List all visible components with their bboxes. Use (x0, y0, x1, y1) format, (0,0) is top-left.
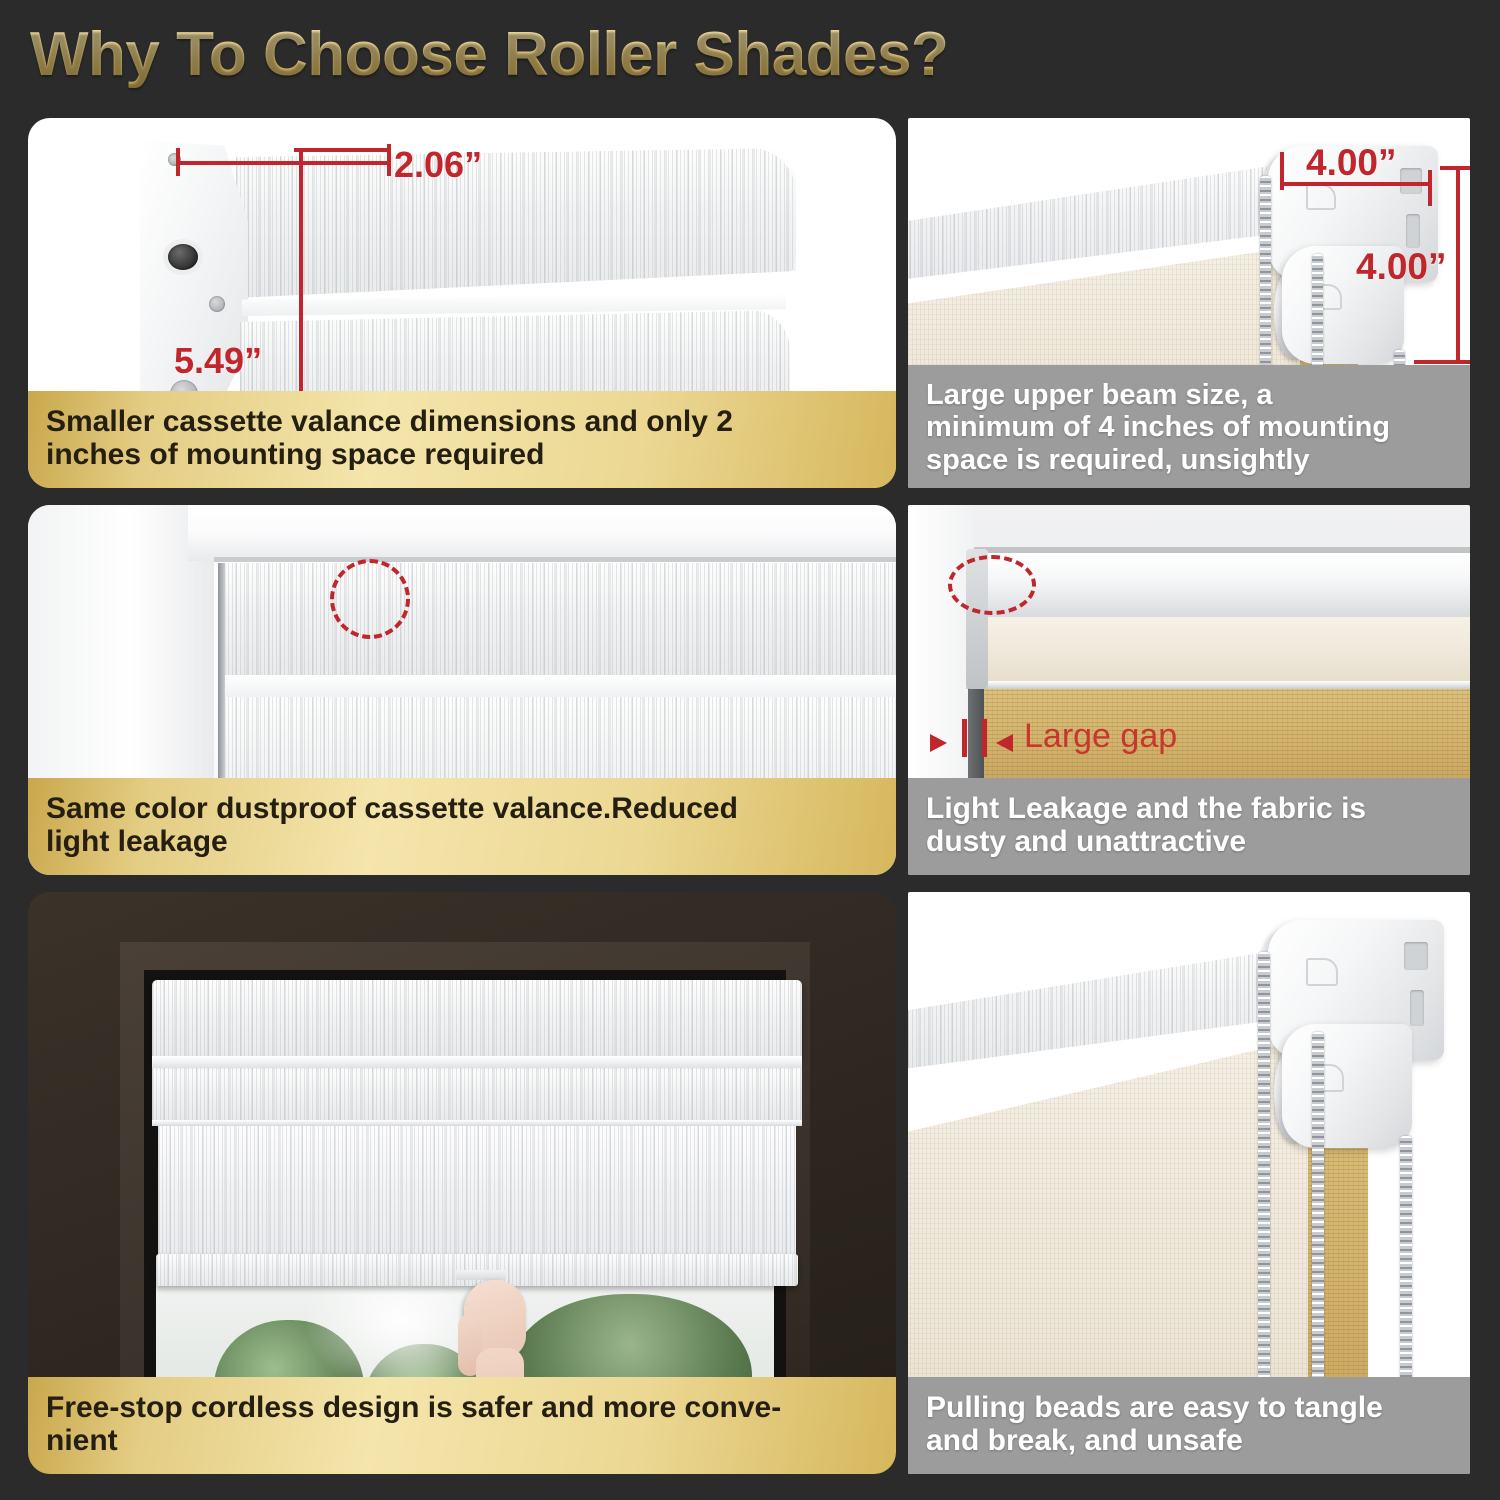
panel-large-upper-beam: 4.00” 4.00” Large upper beam size, a min… (908, 118, 1470, 488)
beam-height-tick-top (1440, 166, 1470, 170)
cassette-headrail (152, 980, 802, 1062)
cream-valance-strip (966, 617, 1470, 685)
large-gap-label: Large gap (1024, 717, 1177, 756)
panel-3-caption: Same color dustproof cassette valance.Re… (28, 778, 896, 875)
gap-highlight-circle (330, 559, 410, 639)
beam-width-label: 4.00” (1306, 142, 1397, 184)
bracket-embossed-arrow-top (1306, 184, 1336, 210)
beam-height-label: 4.00” (1356, 246, 1447, 288)
valance-bottom-edge (966, 681, 1470, 689)
headrail-lip (152, 1056, 802, 1068)
bracket-slot-top (1400, 168, 1422, 194)
panel-6-caption-line-1: Pulling beads are easy to tangle (926, 1391, 1452, 1425)
gap-marker-bar-left (962, 719, 967, 757)
panel-4-caption-line-2: dusty and unattractive (926, 825, 1452, 859)
panel-2-caption: Large upper beam size, a minimum of 4 in… (908, 365, 1470, 488)
panel-2-caption-line-3: space is required, unsightly (926, 444, 1452, 476)
panel-1-caption-line-1: Smaller cassette valance dimensions and … (46, 405, 878, 439)
height-dimension-tick-top (294, 148, 389, 152)
height-dimension-label: 5.49” (174, 340, 262, 382)
panel-6-caption: Pulling beads are easy to tangle and bre… (908, 1377, 1470, 1474)
panel-light-leakage: Large gap Light Leakage and the fabric i… (908, 505, 1470, 875)
gap-highlight-circle (948, 555, 1036, 615)
window-head-trim (188, 505, 896, 561)
panel-cordless-design: Free-stop cordless design is safer and m… (28, 892, 896, 1474)
bracket-slot-mid (1410, 990, 1424, 1026)
panel-dustproof-cassette: smaller gap Same color dustproof cassett… (28, 505, 896, 875)
gap-arrow-left (930, 734, 947, 752)
panel-4-caption-line-1: Light Leakage and the fabric is (926, 792, 1452, 826)
roller-tube-white (966, 553, 1470, 619)
panel-3-caption-line-2: light leakage (46, 825, 878, 859)
bracket-embossed-arrow-top (1306, 958, 1338, 986)
gap-arrow-right (996, 734, 1013, 752)
panel-pulling-beads: Pulling beads are easy to tangle and bre… (908, 892, 1470, 1474)
panel-5-caption-line-2: nient (46, 1424, 878, 1458)
beam-width-tick-right (1428, 170, 1432, 206)
cassette-valance-body (236, 148, 796, 298)
bracket-slot-mid (1406, 214, 1420, 248)
bracket-slot-top (1404, 942, 1428, 970)
beam-width-tick-left (1280, 152, 1284, 190)
panel-3-caption-line-1: Same color dustproof cassette valance.Re… (46, 792, 878, 826)
shade-fabric-upper (224, 563, 896, 679)
title-bar: Why To Choose Roller Shades? (0, 0, 1500, 108)
width-dimension-tick-left (176, 148, 180, 176)
window-head-shadow-line (214, 557, 896, 562)
panel-5-caption-line-1: Free-stop cordless design is safer and m… (46, 1391, 878, 1425)
panel-1-caption-line-2: inches of mounting space required (46, 438, 878, 472)
cassette-lip (224, 675, 896, 697)
panel-2-caption-line-2: minimum of 4 inches of mounting (926, 411, 1452, 443)
width-dimension-label: 2.06” (394, 144, 482, 186)
gap-marker-bar-right (982, 719, 987, 757)
panel-1-caption: Smaller cassette valance dimensions and … (28, 391, 896, 488)
beam-height-tick-bottom (1414, 360, 1470, 364)
panel-2-caption-line-1: Large upper beam size, a (926, 379, 1452, 411)
panel-smaller-cassette: 2.06” 5.49” Smaller cassette valance dim… (28, 118, 896, 488)
page-title: Why To Choose Roller Shades? (30, 19, 948, 90)
shade-upper-tier (152, 1068, 802, 1124)
shade-fabric-drop (158, 1126, 796, 1272)
width-dimension-line (176, 161, 391, 165)
tier-divider (152, 1120, 802, 1126)
panel-4-caption: Light Leakage and the fabric is dusty an… (908, 778, 1470, 875)
beam-height-dimension-line (1456, 166, 1460, 364)
panel-5-caption: Free-stop cordless design is safer and m… (28, 1377, 896, 1474)
panel-6-caption-line-2: and break, and unsafe (926, 1424, 1452, 1458)
free-stop-mechanism-hole (168, 244, 198, 270)
roller-bracket-lower-lobe (1282, 1024, 1412, 1148)
end-cap-screw (209, 296, 225, 312)
